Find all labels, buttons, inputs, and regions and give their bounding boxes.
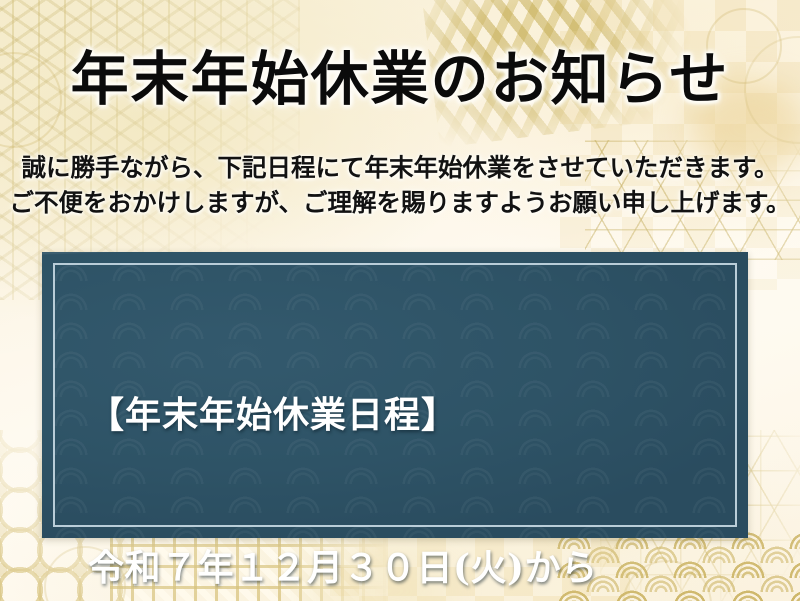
schedule-start-date: 令和７年１２月３０日(火)から xyxy=(88,543,718,594)
holiday-notice-poster: 年末年始休業のお知らせ 誠に勝手ながら、下記日程にて年末年始休業をさせていただき… xyxy=(0,0,800,601)
page-title: 年末年始休業のお知らせ xyxy=(0,50,800,108)
schedule-panel: 【年末年始休業日程】 令和７年１２月３０日(火)から 令和８年 １月 ４日(日)… xyxy=(42,252,748,538)
lead-line-1: 誠に勝手ながら、下記日程にて年末年始休業をさせていただきます。 xyxy=(0,150,800,185)
lead-line-2: ご不便をおかけしますが、ご理解を賜りますようお願い申し上げます。 xyxy=(0,185,800,220)
schedule-heading: 【年末年始休業日程】 xyxy=(88,390,718,441)
lead-paragraph: 誠に勝手ながら、下記日程にて年末年始休業をさせていただきます。 ご不便をおかけし… xyxy=(0,150,800,220)
schedule-text-block: 【年末年始休業日程】 令和７年１２月３０日(火)から 令和８年 １月 ４日(日)… xyxy=(88,288,718,601)
